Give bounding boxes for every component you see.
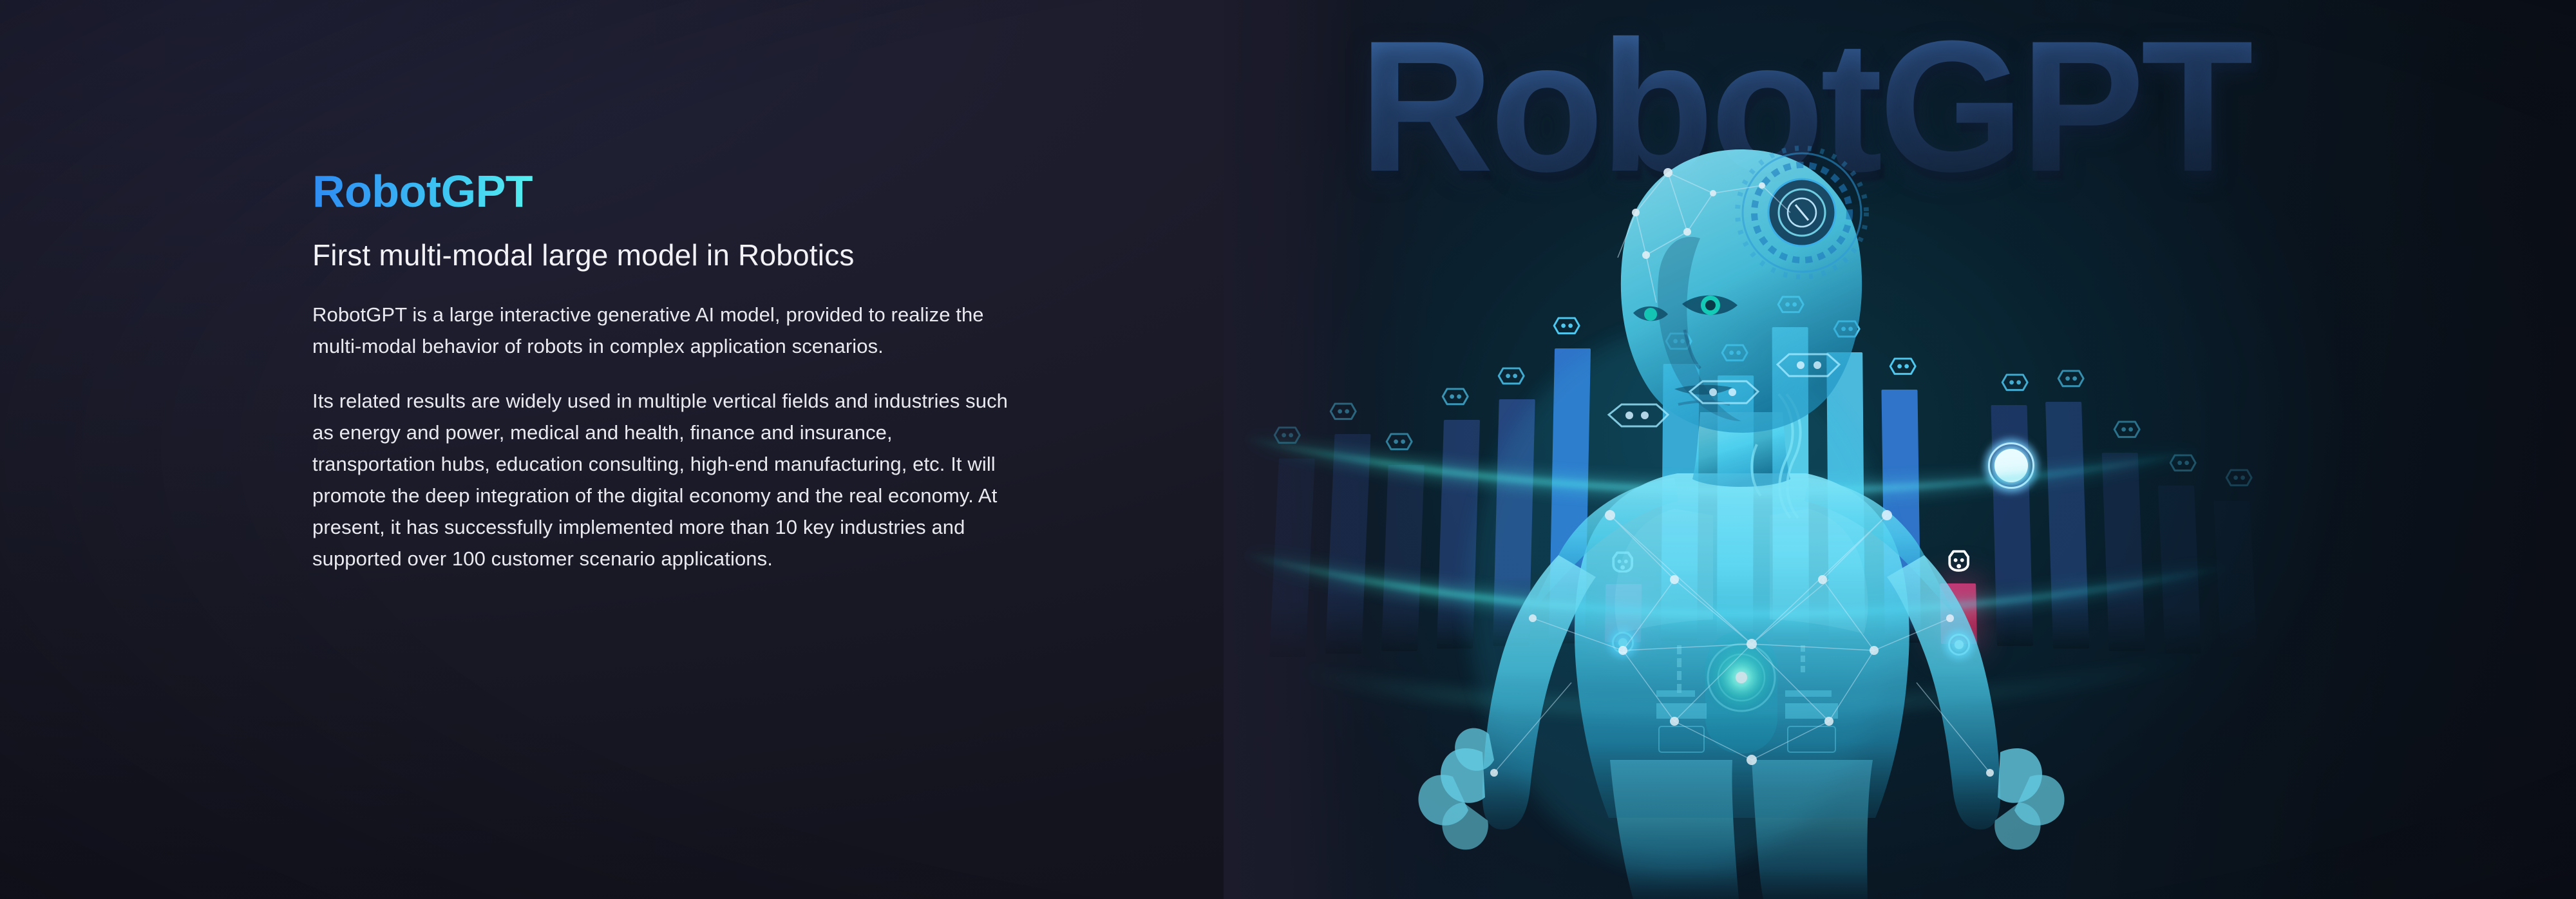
robot-face-hexagon-icon <box>1441 385 1469 408</box>
robot-face-hexagon-icon <box>2169 451 2197 475</box>
robot-face-hexagon-icon <box>1497 364 1525 388</box>
chart-bar <box>1717 375 1754 640</box>
sad-robot-face-icon <box>1945 549 1973 572</box>
hero-paragraph-1: RobotGPT is a large interactive generati… <box>312 299 1014 363</box>
chart-bar <box>1881 390 1920 643</box>
robot-face-hexagon-icon <box>1833 317 1861 341</box>
robot-face-hexagon-icon <box>1273 424 1301 447</box>
chart-bar <box>1772 327 1809 641</box>
chart-bar <box>1437 420 1480 648</box>
chart-bar <box>1269 459 1314 657</box>
robot-face-hexagon-icon <box>1329 400 1357 423</box>
hero-copy: RobotGPT First multi-modal large model i… <box>312 169 1214 575</box>
page-title: RobotGPT <box>312 169 533 214</box>
robot-face-hexagon-icon <box>2001 371 2029 394</box>
chart-bar <box>2213 501 2257 657</box>
glow-target-ring-icon <box>1604 624 1642 661</box>
robot-face-hexagon-icon <box>1721 341 1748 364</box>
robot-face-hexagon-icon <box>2057 367 2085 390</box>
robot-face-hexagon-icon <box>1777 293 1804 316</box>
chart-bar <box>2158 486 2201 654</box>
glow-target-ring-icon <box>1940 626 1978 663</box>
chart-bar <box>1661 364 1699 641</box>
robot-face-hexagon-icon <box>1889 355 1917 378</box>
hero-paragraph-2: Its related results are widely used in m… <box>312 386 1014 575</box>
robot-face-hexagon-icon <box>2225 466 2253 489</box>
robot-face-hexagon-icon <box>2113 418 2141 441</box>
chart-bar <box>2045 402 2089 648</box>
hero-banner: RobotGPT RobotGPT <box>0 0 2576 899</box>
glow-target-ring-icon <box>1980 435 2042 497</box>
chart-bar <box>1381 465 1424 651</box>
chart-bar <box>2102 453 2145 651</box>
robot-face-hexagon-icon <box>1665 330 1692 353</box>
robot-face-hexagon-icon <box>1385 430 1413 453</box>
bar-chart <box>1224 0 2576 899</box>
hero-tagline: First multi-modal large model in Robotic… <box>312 238 1214 272</box>
chart-bar <box>1493 399 1535 646</box>
chart-bar <box>1549 348 1591 643</box>
robot-face-hexagon-icon <box>1553 314 1580 337</box>
chart-bar <box>1325 434 1370 654</box>
sad-robot-face-icon <box>1609 550 1636 573</box>
chart-bar <box>1826 352 1864 641</box>
